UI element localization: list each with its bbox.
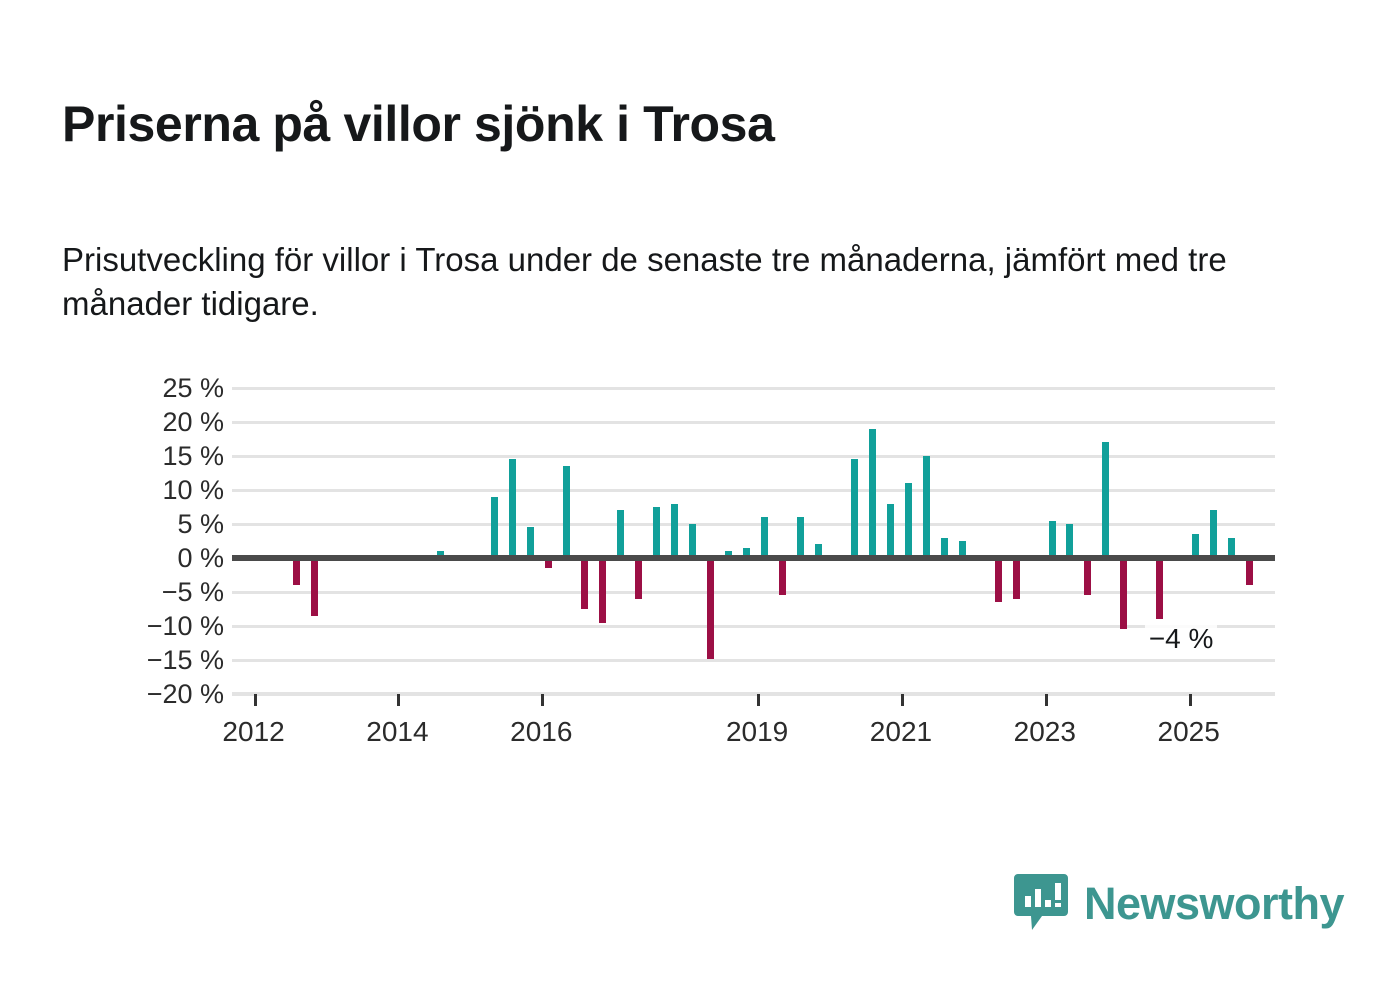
gridline [232, 421, 1275, 424]
bar [1210, 510, 1217, 558]
bar [1156, 558, 1163, 619]
bar [905, 483, 912, 558]
bar [1084, 558, 1091, 595]
y-tick-label: −20 % [147, 681, 224, 708]
x-tick-label: 2021 [870, 716, 932, 748]
bar [1246, 558, 1253, 585]
x-tick-label: 2023 [1014, 716, 1076, 748]
y-tick-label: −5 % [162, 579, 224, 606]
y-tick-label: 10 % [162, 477, 224, 504]
x-tick [397, 694, 400, 706]
x-tick [757, 694, 760, 706]
y-tick-label: −15 % [147, 647, 224, 674]
logo-wordmark: Newsworthy [1084, 881, 1344, 926]
bar [761, 517, 768, 558]
bar [599, 558, 606, 623]
x-tick-label: 2019 [726, 716, 788, 748]
bar [1013, 558, 1020, 599]
bar [1120, 558, 1127, 629]
x-tick [541, 694, 544, 706]
bar [1049, 521, 1056, 558]
bar [491, 497, 498, 558]
bar [869, 429, 876, 558]
bar [797, 517, 804, 558]
bar [509, 459, 516, 558]
gridline [232, 625, 1275, 628]
bar [293, 558, 300, 585]
bar [887, 504, 894, 558]
y-tick-label: 0 % [177, 545, 224, 572]
bar [923, 456, 930, 558]
bar [671, 504, 678, 558]
zero-axis-line [232, 555, 1275, 561]
x-tick [901, 694, 904, 706]
plot-area [232, 388, 1275, 694]
bar [311, 558, 318, 616]
bar [527, 527, 534, 558]
x-tick [1045, 694, 1048, 706]
gridline [232, 455, 1275, 458]
x-tick [254, 694, 257, 706]
x-tick-label: 2025 [1158, 716, 1220, 748]
x-axis-line [232, 692, 1275, 694]
infographic-page: Priserna på villor sjönk i Trosa Prisutv… [0, 0, 1382, 999]
value-annotation: −4 % [1145, 622, 1218, 656]
gridline [232, 387, 1275, 390]
gridline [232, 523, 1275, 526]
bar [1066, 524, 1073, 558]
bar [617, 510, 624, 558]
bar [635, 558, 642, 599]
gridline [232, 591, 1275, 594]
gridline [232, 659, 1275, 662]
y-tick-label: 25 % [162, 375, 224, 402]
bar-chart: 25 %20 %15 %10 %5 %0 %−5 %−10 %−15 %−20 … [0, 0, 1382, 999]
bar [689, 524, 696, 558]
y-tick-label: 15 % [162, 443, 224, 470]
bar [563, 466, 570, 558]
bar [653, 507, 660, 558]
bar [1102, 442, 1109, 558]
y-axis-labels: 25 %20 %15 %10 %5 %0 %−5 %−10 %−15 %−20 … [96, 370, 224, 710]
gridline [232, 489, 1275, 492]
speech-bubble-barchart-icon [1012, 872, 1070, 934]
bar [707, 558, 714, 659]
x-tick-label: 2012 [222, 716, 284, 748]
bar [851, 459, 858, 558]
x-tick [1189, 694, 1192, 706]
y-tick-label: 20 % [162, 409, 224, 436]
bar [581, 558, 588, 609]
y-tick-label: 5 % [177, 511, 224, 538]
x-tick-label: 2016 [510, 716, 572, 748]
bar [995, 558, 1002, 602]
bar [779, 558, 786, 595]
x-tick-label: 2014 [366, 716, 428, 748]
newsworthy-logo: Newsworthy [1012, 872, 1344, 934]
y-tick-label: −10 % [147, 613, 224, 640]
